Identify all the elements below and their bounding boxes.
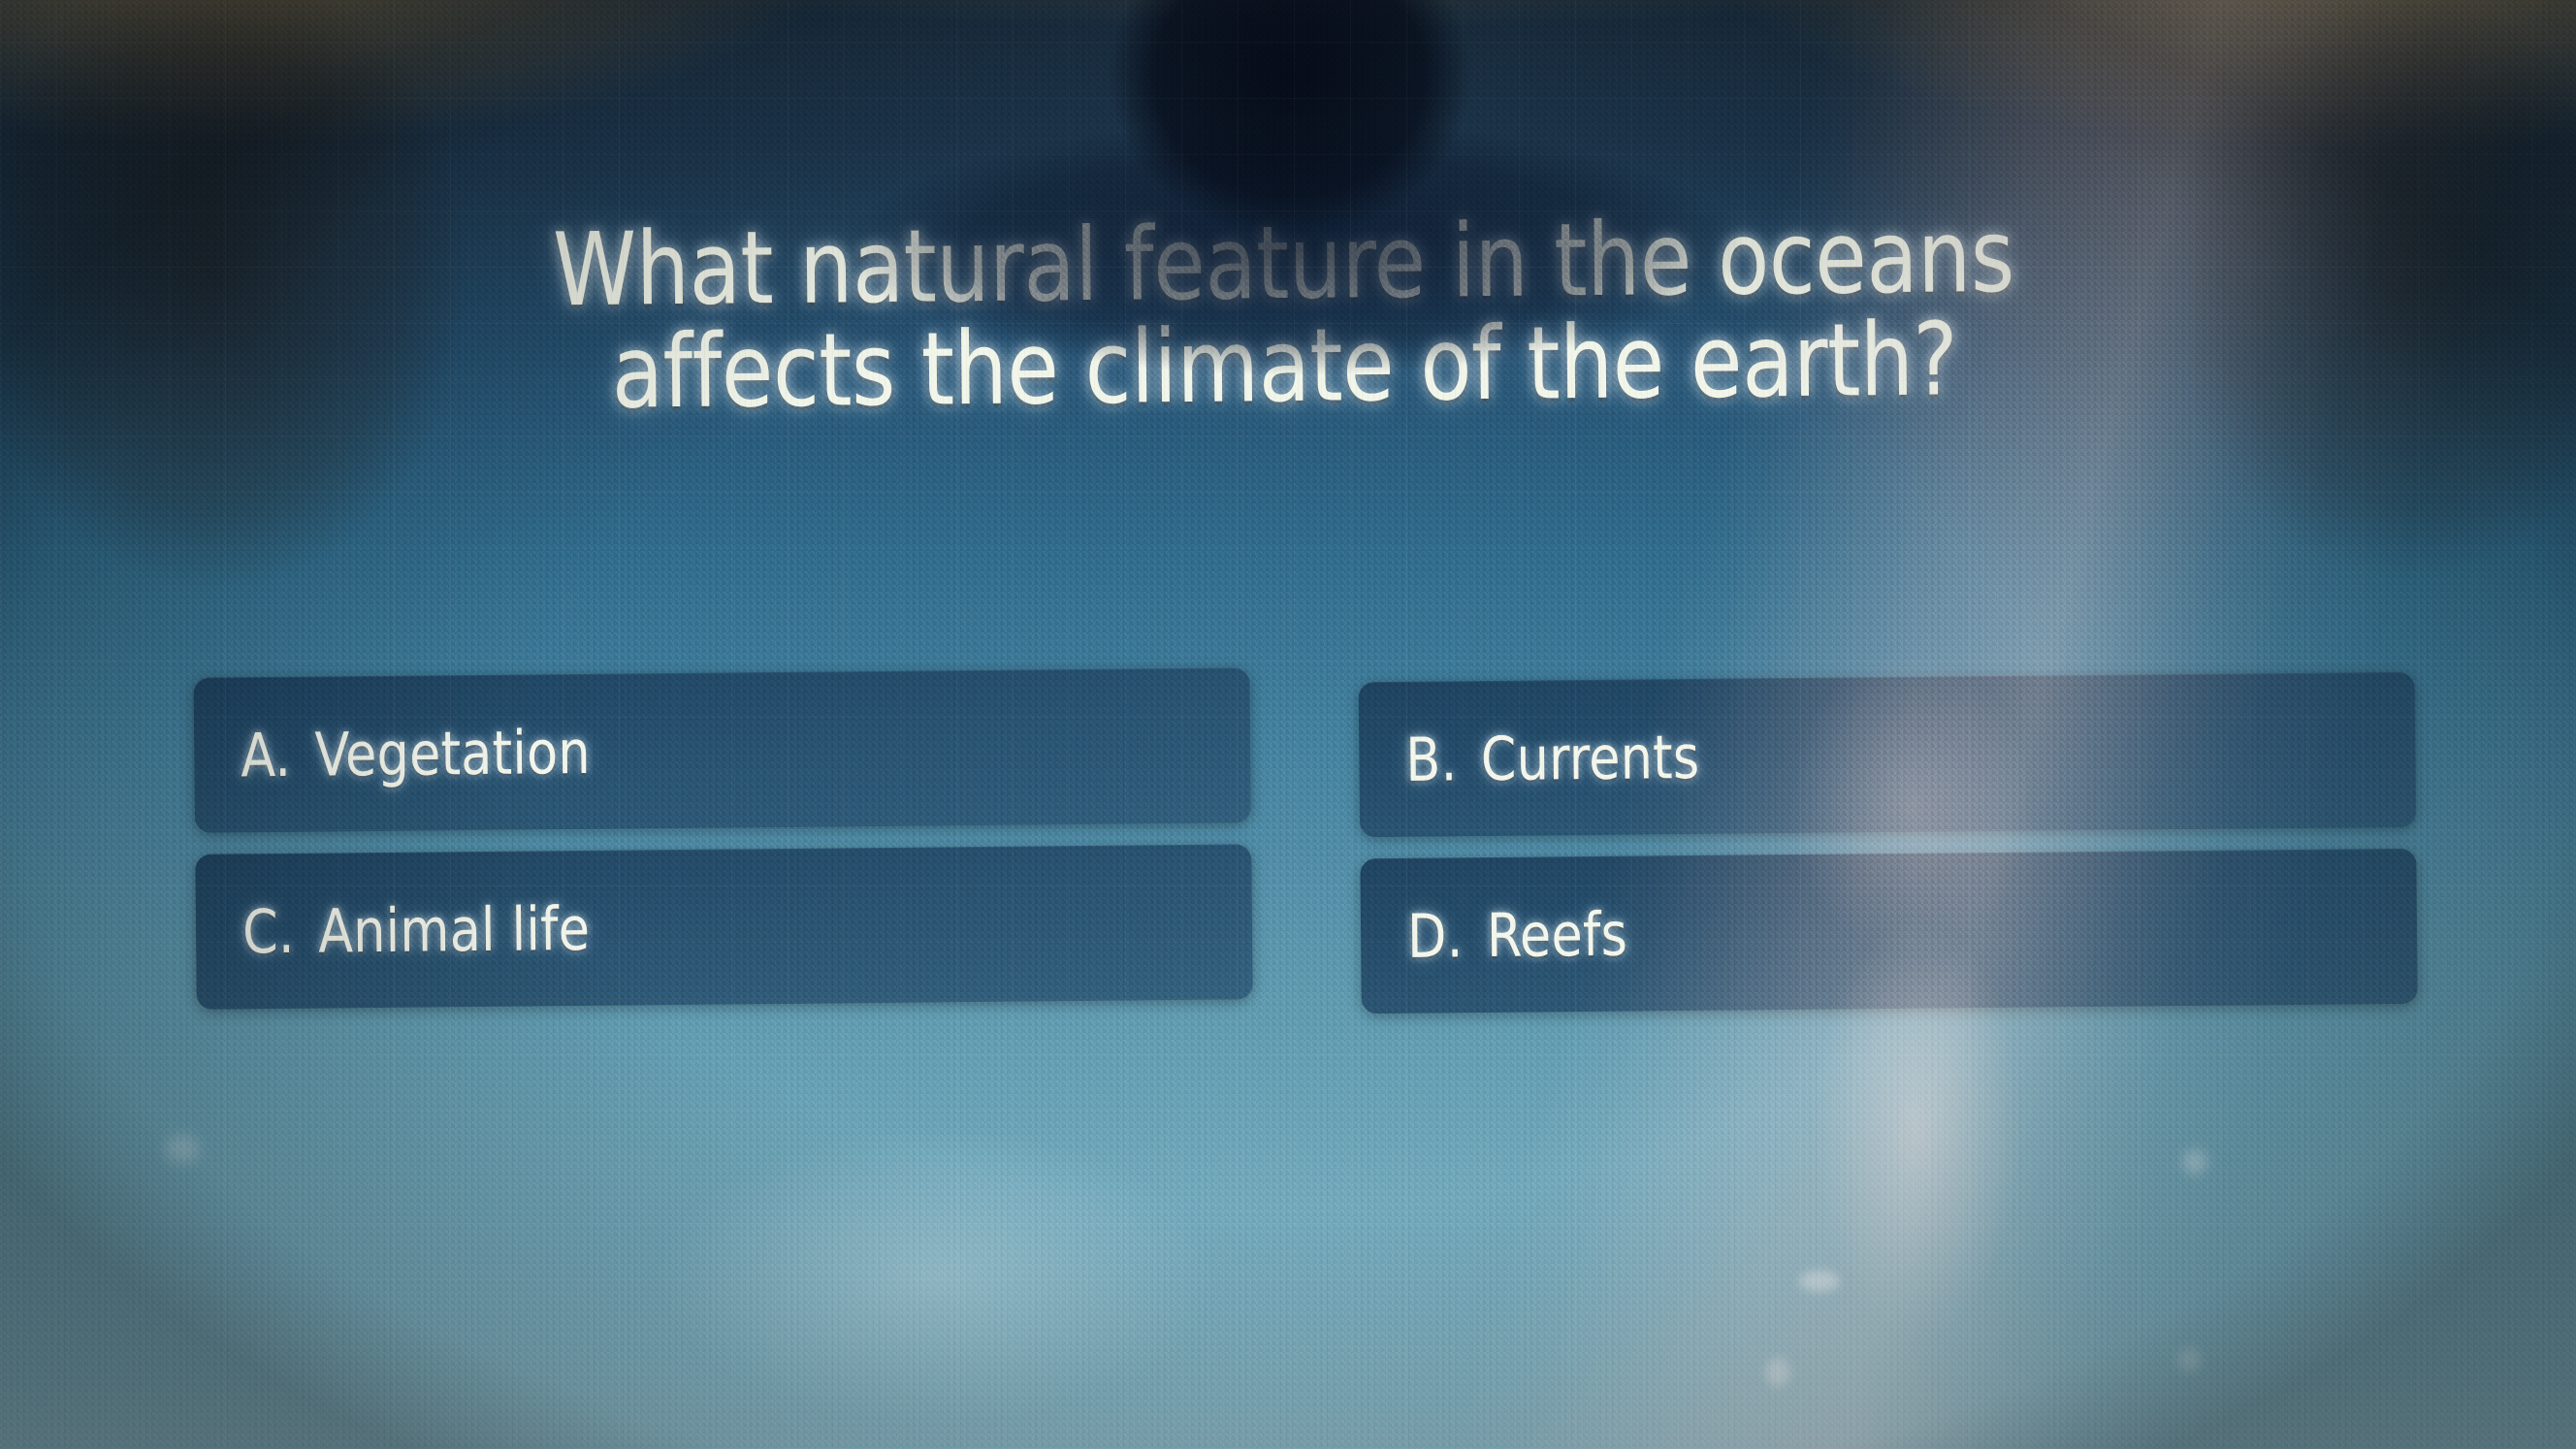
lens-vignette <box>0 0 2576 1449</box>
photographed-screen: What natural feature in the oceans affec… <box>0 0 2576 1449</box>
